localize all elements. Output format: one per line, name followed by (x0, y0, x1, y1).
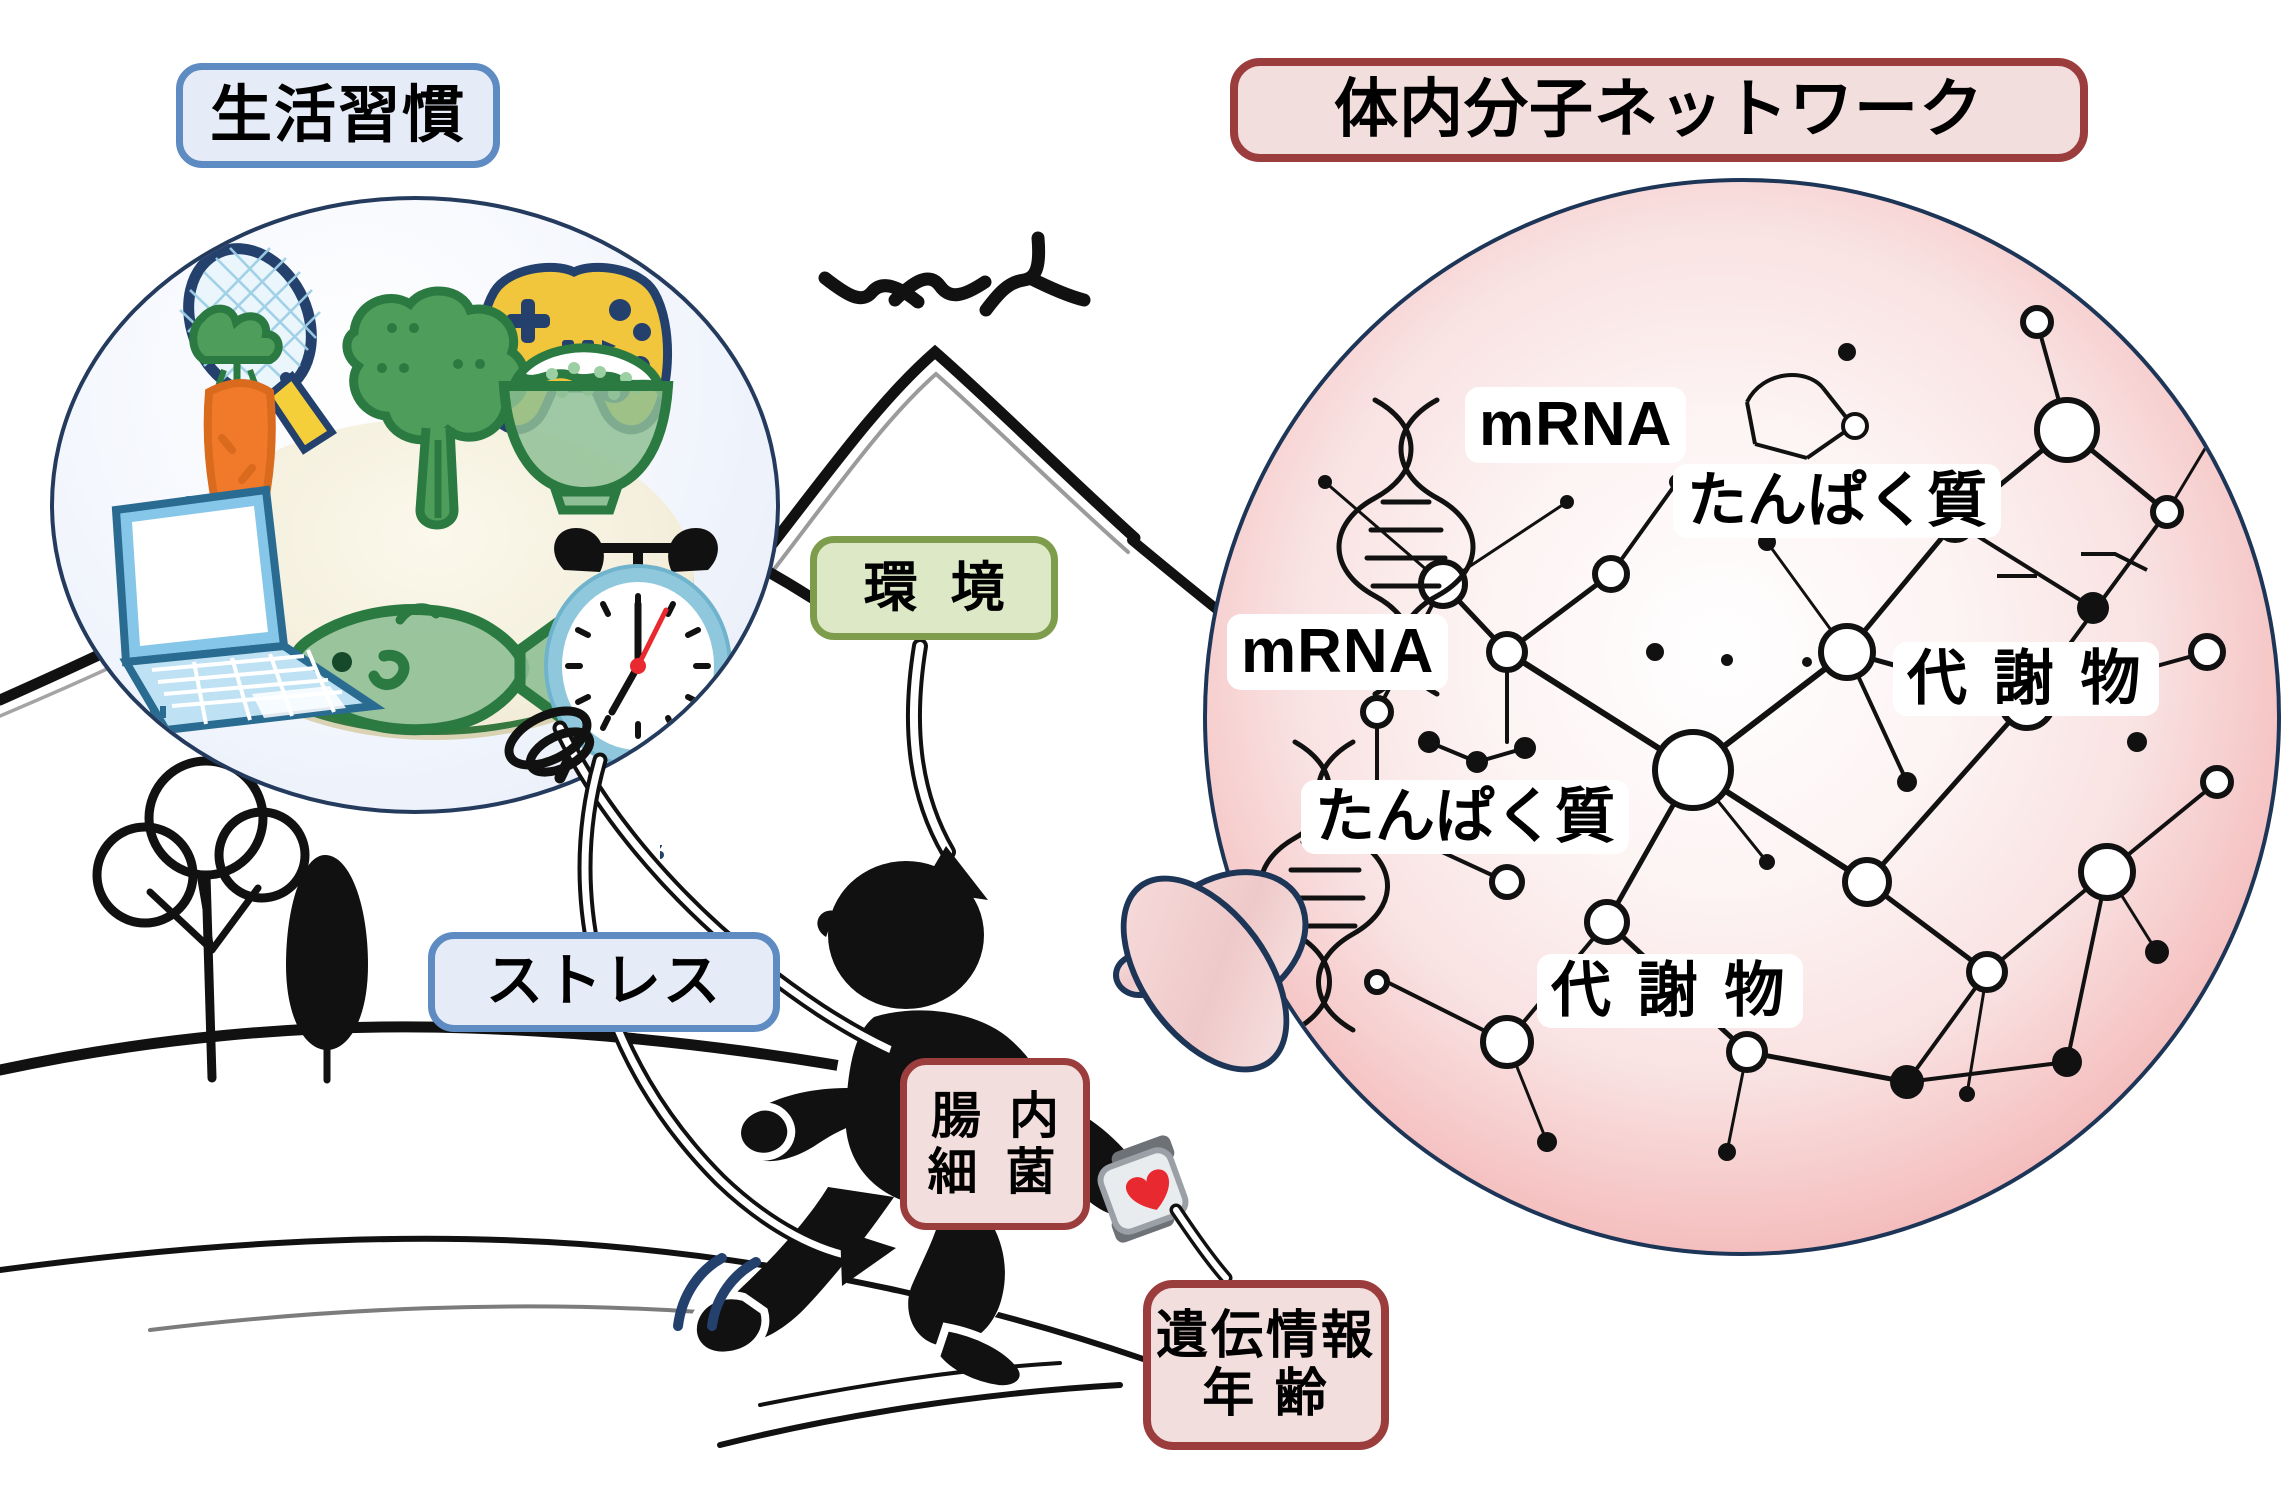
title-lifestyle: 生活習慣 (176, 63, 500, 168)
label-genome-age: 遺伝情報 年 齢 (1143, 1280, 1389, 1450)
connector-watch-to-genome (1176, 1210, 1226, 1278)
label-environment: 環 境 (810, 536, 1058, 640)
label-gut-bacteria: 腸 内 細 菌 (900, 1058, 1090, 1230)
title-network: 体内分子ネットワーク (1230, 58, 2088, 162)
connector-arrows (0, 0, 2293, 1502)
infographic-canvas: mRNA たんぱく質 mRNA 代 謝 物 たんぱく質 代 謝 物 (0, 0, 2293, 1502)
label-stress: ストレス (428, 932, 780, 1032)
arrow-environment-to-person (914, 646, 988, 900)
